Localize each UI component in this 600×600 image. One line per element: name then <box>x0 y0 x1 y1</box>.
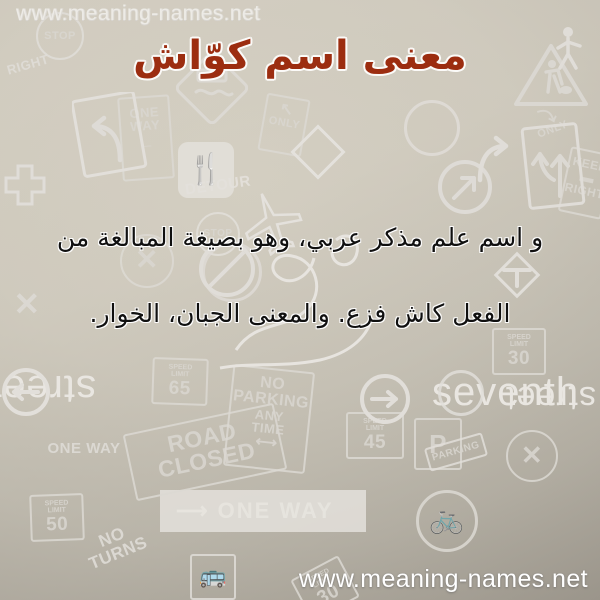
meaning-line-2: الفعل كاش فزع. والمعنى الجبان، الخوار. <box>30 298 570 329</box>
sign-keep-right: KEEP ▬ RIGHT <box>558 146 600 220</box>
sign-parking-word: PARKING <box>424 432 488 472</box>
sign-only-right-arrow: ↖ ONLY <box>257 93 310 158</box>
sign-arrow-left-circle-icon <box>0 366 52 418</box>
sign-speed-limit-65: SPEED LIMIT 65 <box>151 357 209 406</box>
sign-no-parking-any-time: NO PARKING ANY TIME ⟷ <box>223 364 315 474</box>
sign-hospital-icon <box>0 160 50 210</box>
sign-bus-icon: 🚌 <box>190 554 236 600</box>
sign-no-entry-2 <box>404 100 460 156</box>
sign-speed-limit-45: SPEED LIMIT 45 <box>346 412 404 459</box>
sign-parking-p: P <box>414 418 462 470</box>
sign-curve-right-arrow-icon <box>462 118 522 190</box>
sign-no-bicycle-icon: 🚲 <box>416 490 478 552</box>
name-meaning-card: street seventh street ONEWAY ← ONE WAY ⟶… <box>0 0 600 600</box>
sign-railroad-crossing-1: ✕ <box>506 430 558 482</box>
sign-one-way-top: ONE WAY <box>24 436 144 462</box>
sign-restaurant-icon: 🍴 <box>178 142 234 198</box>
sign-detour: DETOUR <box>177 173 258 199</box>
decor-text-street: street <box>0 366 96 411</box>
sign-curve-arrow-icon <box>436 158 494 216</box>
name-meaning-text: و اسم علم مذكر عربي، وهو بصيغة المبالغة … <box>30 222 570 330</box>
decor-text-street-2: street <box>505 378 596 417</box>
sign-one-way-vertical: ONEWAY ← <box>117 94 175 181</box>
watermark-bottom-right: www.meaning-names.net <box>299 565 588 594</box>
sign-no-entry-3 <box>438 370 484 416</box>
sign-curve-left-arrow-icon <box>72 92 150 178</box>
sign-only-curve: ⤵ ONLY <box>524 101 575 143</box>
decor-text-seventh: seventh <box>432 370 579 415</box>
sign-curve-diamond-icon <box>286 120 350 184</box>
sign-no-turns: NOTURNS <box>76 516 154 574</box>
page-title: معنى اسم كوّاش <box>0 33 600 79</box>
sign-arrow-right-circle-icon <box>358 372 412 426</box>
sign-speed-limit-30: SPEED LIMIT 30 <box>492 328 546 375</box>
sign-road-closed: ROADCLOSED <box>123 403 288 502</box>
sign-speed-limit-50: SPEED LIMIT 50 <box>29 493 85 541</box>
sign-straight-or-left-arrow-icon <box>520 122 586 212</box>
watermark-top-left: www.meaning-names.net <box>16 2 260 26</box>
meaning-line-1: و اسم علم مذكر عربي، وهو بصيغة المبالغة … <box>30 222 570 253</box>
sign-one-way-horizontal: ONE WAY ⟶ <box>160 490 366 532</box>
